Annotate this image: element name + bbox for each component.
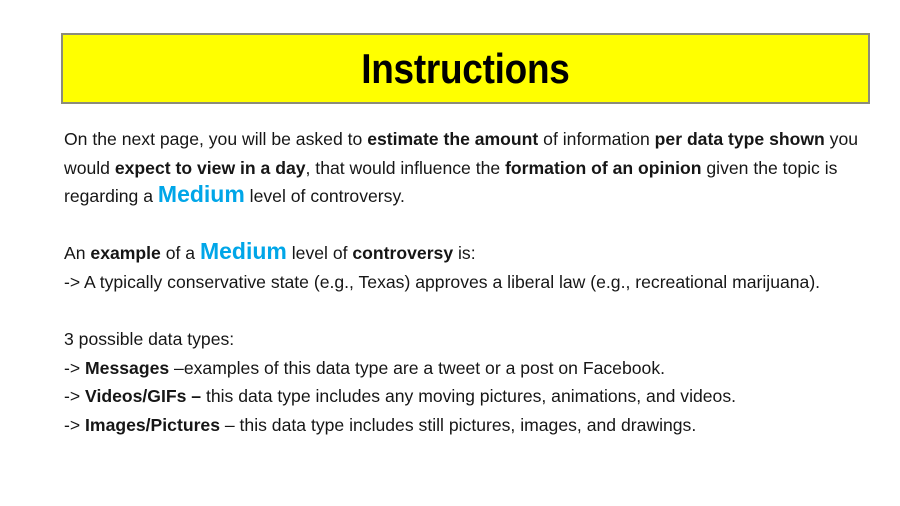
datatype-arrow: -> (64, 386, 85, 406)
title-banner: Instructions (61, 33, 870, 104)
p2-seg6: controversy (352, 243, 453, 263)
p2-seg2: example (90, 243, 160, 263)
p1-seg11: level of controversy. (245, 186, 405, 206)
slide-canvas: Instructions On the next page, you will … (0, 0, 900, 506)
datatype-arrow: -> (64, 358, 85, 378)
p1-seg8: formation of an opinion (505, 158, 701, 178)
page-title: Instructions (361, 48, 569, 90)
p2-seg5: level of (287, 243, 353, 263)
paragraph-spacer-1 (64, 211, 864, 240)
p1-seg3: of information (538, 129, 654, 149)
datatype-label-videos: Videos/GIFs – (85, 386, 201, 406)
p1-seg4: per data type shown (655, 129, 825, 149)
p1-seg6: expect to view in a day (115, 158, 306, 178)
p2-seg1: An (64, 243, 90, 263)
datatype-desc-messages: –examples of this data type are a tweet … (169, 358, 665, 378)
datatypes-heading: 3 possible data types: (64, 325, 864, 354)
datatype-desc-videos: this data type includes any moving pictu… (201, 386, 736, 406)
datatype-label-messages: Messages (85, 358, 169, 378)
p1-seg1: On the next page, you will be asked to (64, 129, 367, 149)
paragraph-example-body: -> A typically conservative state (e.g.,… (64, 268, 864, 297)
p1-seg2: estimate the amount (367, 129, 538, 149)
datatype-item-messages: -> Messages –examples of this data type … (64, 354, 864, 383)
paragraph-example-intro: An example of a Medium level of controve… (64, 239, 864, 268)
p1-seg7: , that would influence the (306, 158, 506, 178)
datatype-item-videos: -> Videos/GIFs – this data type includes… (64, 382, 864, 411)
p1-medium-highlight: Medium (158, 181, 245, 207)
paragraph-spacer-2 (64, 297, 864, 326)
datatype-arrow: -> (64, 415, 85, 435)
datatype-item-images: -> Images/Pictures – this data type incl… (64, 411, 864, 440)
p2-medium-highlight: Medium (200, 238, 287, 264)
p2-seg7: is: (453, 243, 475, 263)
datatype-label-images: Images/Pictures (85, 415, 220, 435)
slide-body: On the next page, you will be asked to e… (64, 125, 864, 440)
paragraph-instructions: On the next page, you will be asked to e… (64, 125, 864, 211)
p2-seg3: of a (161, 243, 200, 263)
datatype-desc-images: – this data type includes still pictures… (220, 415, 696, 435)
